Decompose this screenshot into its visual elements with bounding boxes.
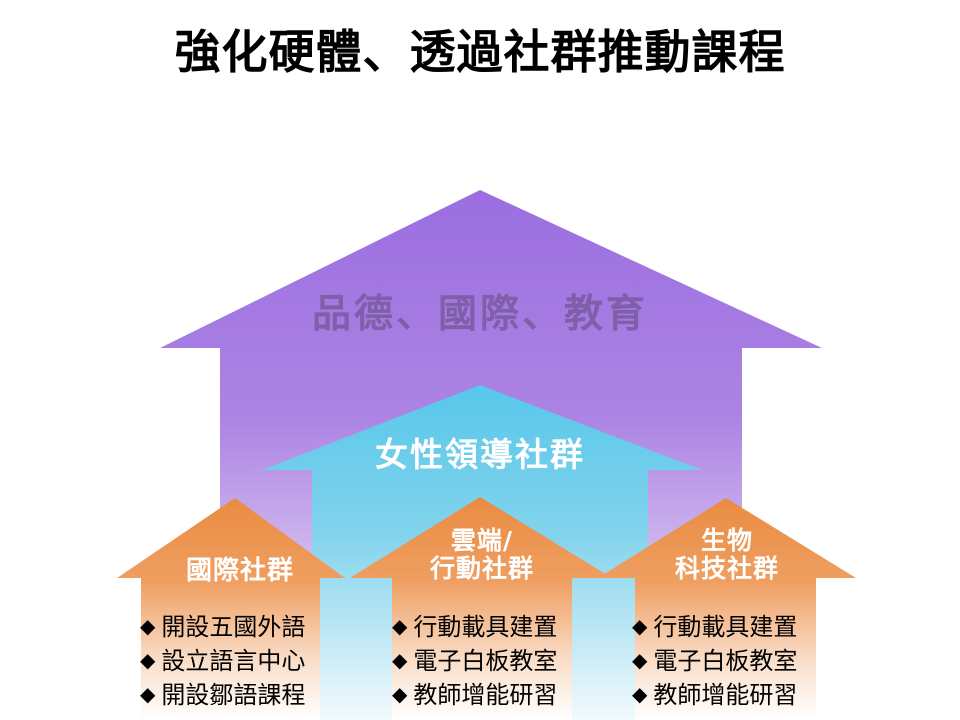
list-item: ◆開設鄒語課程 [140, 678, 305, 712]
list-item: ◆設立語言中心 [140, 644, 305, 678]
diamond-bullet-icon: ◆ [632, 648, 647, 672]
list-item-label: 行動載具建置 [653, 613, 797, 641]
diamond-bullet-icon: ◆ [140, 648, 155, 672]
list-item-label: 開設五國外語 [161, 613, 305, 641]
diamond-bullet-icon: ◆ [632, 682, 647, 706]
list-item: ◆開設五國外語 [140, 610, 305, 644]
list-item-label: 教師增能研習 [413, 681, 557, 709]
list-item: ◆教師增能研習 [392, 678, 557, 712]
list-item: ◆教師增能研習 [632, 678, 797, 712]
list-item: ◆行動載具建置 [392, 610, 557, 644]
list-item-label: 電子白板教室 [413, 647, 557, 675]
diamond-bullet-icon: ◆ [140, 614, 155, 638]
list-item-label: 電子白板教室 [653, 647, 797, 675]
diamond-bullet-icon: ◆ [140, 682, 155, 706]
list-item: ◆行動載具建置 [632, 610, 797, 644]
diamond-bullet-icon: ◆ [632, 614, 647, 638]
list-item: ◆電子白板教室 [632, 644, 797, 678]
list-item-label: 設立語言中心 [161, 647, 305, 675]
list-item-label: 開設鄒語課程 [161, 681, 305, 709]
diamond-bullet-icon: ◆ [392, 648, 407, 672]
diamond-bullet-icon: ◆ [392, 682, 407, 706]
international-group-bullets: ◆開設五國外語 ◆設立語言中心 ◆開設鄒語課程 [140, 610, 305, 712]
list-item: ◆電子白板教室 [392, 644, 557, 678]
list-item-label: 教師增能研習 [653, 681, 797, 709]
cloud-mobile-group-bullets: ◆行動載具建置 ◆電子白板教室 ◆教師增能研習 [392, 610, 557, 712]
biotech-group-bullets: ◆行動載具建置 ◆電子白板教室 ◆教師增能研習 [632, 610, 797, 712]
list-item-label: 行動載具建置 [413, 613, 557, 641]
slide-canvas: 強化硬體、透過社群推動課程 [0, 0, 960, 720]
diamond-bullet-icon: ◆ [392, 614, 407, 638]
